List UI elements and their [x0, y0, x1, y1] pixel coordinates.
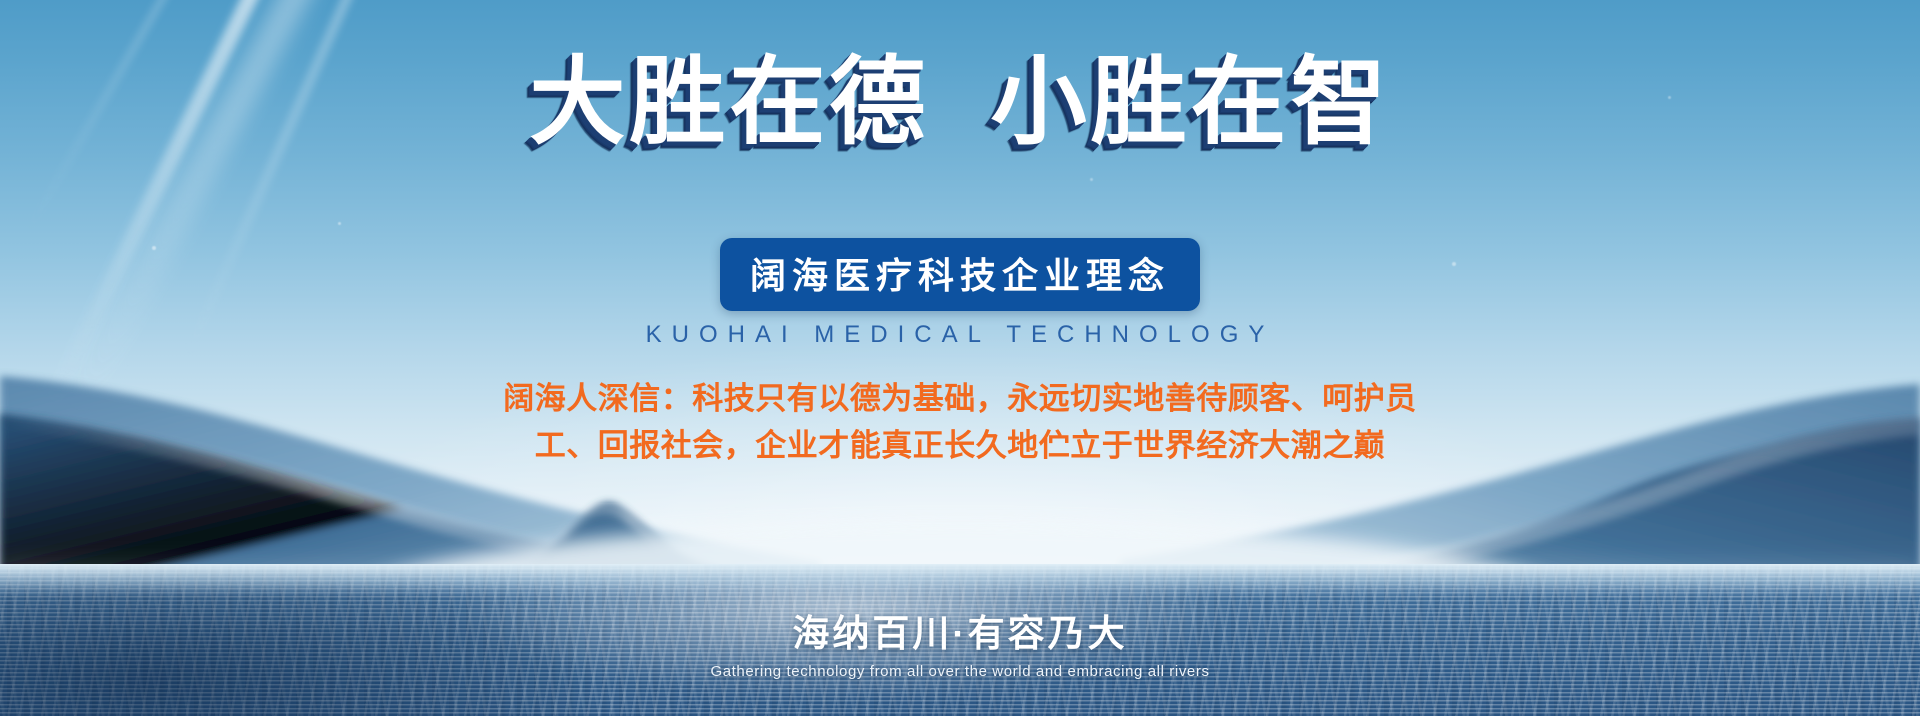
- page-title: 大胜在德 小胜在智: [529, 52, 1390, 154]
- hero-banner: 大胜在德 小胜在智 阔海医疗科技企业理念 KUOHAI MEDICAL TECH…: [0, 0, 1920, 716]
- philosophy-statement-line-1: 阔海人深信：科技只有以德为基础，永远切实地善待顾客、呵护员: [503, 375, 1417, 422]
- concept-badge-label: 阔海医疗科技企业理念: [750, 255, 1170, 296]
- banner-footer: 海纳百川·有容乃大 Gathering technology from all …: [0, 603, 1920, 680]
- concept-badge: 阔海医疗科技企业理念: [720, 238, 1200, 311]
- footer-slogan-chinese: 海纳百川·有容乃大: [0, 603, 1920, 657]
- philosophy-statement-line-2: 工、回报社会，企业才能真正长久地伫立于世界经济大潮之巅: [503, 422, 1417, 469]
- footer-slogan-english: Gathering technology from all over the w…: [0, 663, 1920, 680]
- company-name-english: KUOHAI MEDICAL TECHNOLOGY: [646, 321, 1275, 349]
- philosophy-statement: 阔海人深信：科技只有以德为基础，永远切实地善待顾客、呵护员 工、回报社会，企业才…: [503, 375, 1417, 469]
